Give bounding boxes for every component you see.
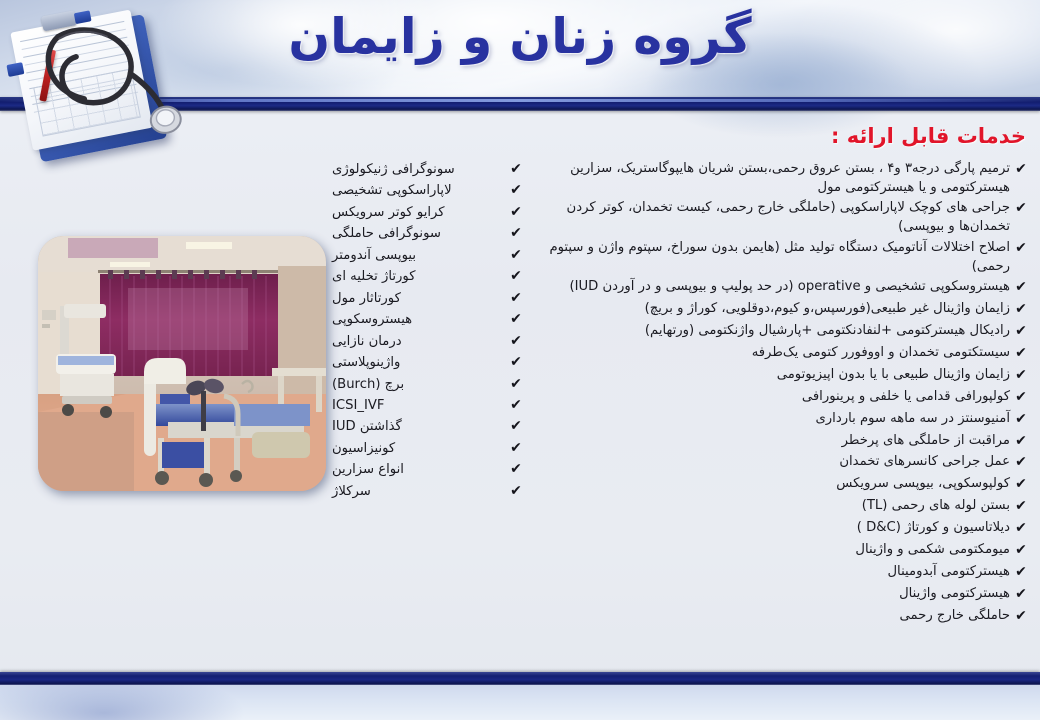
service-right-label: هیسترکتومی واژینال (512, 585, 1010, 604)
check-icon: ✔ (1010, 519, 1032, 539)
check-icon: ✔ (506, 181, 526, 201)
check-icon: ✔ (1010, 410, 1032, 430)
service-left-label: کرایو کوتر سرویکس (330, 203, 506, 223)
service-right-label: زایمان واژینال طبیعی با یا بدون اپیزیوتو… (512, 366, 1010, 385)
check-icon: ✔ (1010, 199, 1032, 219)
check-icon: ✔ (1010, 388, 1032, 408)
service-left-label: کورتاثار مول (330, 289, 506, 309)
service-right-label: بستن لوله های رحمی (TL) (512, 497, 1010, 516)
list-item: ✔مراقبت از حاملگی های پرخطر (512, 432, 1032, 452)
service-right-label: هیستروسکوپی تشخیصی و operative (در حد پو… (512, 278, 1010, 297)
section-subtitle: خدمات قابل ارائه : (831, 124, 1026, 148)
list-item: ✔لاپاراسکوپی تشخیصی (330, 181, 526, 201)
service-left-label: درمان نازایی (330, 332, 506, 352)
check-icon: ✔ (506, 332, 526, 352)
check-icon: ✔ (506, 203, 526, 223)
service-left-label: بیوپسی آندومتر (330, 246, 506, 266)
check-icon: ✔ (1010, 453, 1032, 473)
clipboard-stethoscope-icon (0, 0, 204, 179)
services-list-right: ✔ترمیم پارگی درجه۳ و۴ ، بستن عروق رحمی،ب… (512, 160, 1032, 628)
check-icon: ✔ (1010, 432, 1032, 452)
list-item: ✔زایمان واژینال طبیعی با یا بدون اپیزیوت… (512, 366, 1032, 386)
list-item: ✔بیوپسی آندومتر (330, 246, 526, 266)
list-item: ✔کولپورافی قدامی یا خلفی و پرینورافی (512, 388, 1032, 408)
list-item: ✔جراحی های کوچک لاپاراسکوپی (حاملگی خارج… (512, 199, 1032, 236)
list-item: ✔هیسترکتومی واژینال (512, 585, 1032, 605)
list-item: ✔سونوگرافی ژنیکولوژی (330, 160, 526, 180)
check-icon: ✔ (1010, 607, 1032, 627)
list-item: ✔برچ (Burch) (330, 375, 526, 395)
list-item: ✔رادیکال هیسترکتومی +لنفادنکتومی +پارشیا… (512, 322, 1032, 342)
list-item: ✔کرایو کوتر سرویکس (330, 203, 526, 223)
service-right-label: ترمیم پارگی درجه۳ و۴ ، بستن عروق رحمی،بس… (512, 160, 1010, 197)
list-item: ✔عمل جراحی کانسرهای تخمدان (512, 453, 1032, 473)
service-right-label: اصلاح اختلالات آناتومیک دستگاه تولید مثل… (512, 239, 1010, 276)
list-item: ✔هیسترکتومی آبدومینال (512, 563, 1032, 583)
check-icon: ✔ (1010, 344, 1032, 364)
service-right-label: زایمان واژینال غیر طبیعی(فورسپس،و کیوم،د… (512, 300, 1010, 319)
service-right-label: هیسترکتومی آبدومینال (512, 563, 1010, 582)
footer-sky-band (0, 685, 1040, 720)
check-icon: ✔ (506, 246, 526, 266)
footer-divider-bar (0, 672, 1040, 685)
service-left-label: انواع سزارین (330, 460, 506, 480)
check-icon: ✔ (1010, 160, 1032, 180)
service-right-label: حاملگی خارج رحمی (512, 607, 1010, 626)
service-right-label: عمل جراحی کانسرهای تخمدان (512, 453, 1010, 472)
slide-canvas: گروه زنان و زایمان (0, 0, 1040, 720)
check-icon: ✔ (506, 353, 526, 373)
service-left-label: سونوگرافی ژنیکولوژی (330, 160, 506, 180)
check-icon: ✔ (506, 460, 526, 480)
check-icon: ✔ (1010, 541, 1032, 561)
list-item: ✔ICSI_IVF (330, 396, 526, 416)
service-left-label: هیستروسکوپی (330, 310, 506, 330)
service-right-label: میومکتومی شکمی و واژینال (512, 541, 1010, 560)
list-item: ✔کونیزاسیون (330, 439, 526, 459)
service-left-label: کونیزاسیون (330, 439, 506, 459)
service-right-label: رادیکال هیسترکتومی +لنفادنکتومی +پارشیال… (512, 322, 1010, 341)
check-icon: ✔ (506, 310, 526, 330)
list-item: ✔بستن لوله های رحمی (TL) (512, 497, 1032, 517)
check-icon: ✔ (1010, 475, 1032, 495)
service-left-label: سرکلاژ (330, 482, 506, 502)
service-left-label: لاپاراسکوپی تشخیصی (330, 181, 506, 201)
check-icon: ✔ (1010, 563, 1032, 583)
service-right-label: جراحی های کوچک لاپاراسکوپی (حاملگی خارج … (512, 199, 1010, 236)
list-item: ✔زایمان واژینال غیر طبیعی(فورسپس،و کیوم،… (512, 300, 1032, 320)
list-item: ✔دیلاتاسیون و کورتاژ (D&C ) (512, 519, 1032, 539)
list-item: ✔کورتاثار مول (330, 289, 526, 309)
check-icon: ✔ (506, 396, 526, 416)
service-right-label: کولپوسکوپی، بیوپسی سرویکس (512, 475, 1010, 494)
list-item: ✔سرکلاژ (330, 482, 526, 502)
check-icon: ✔ (1010, 585, 1032, 605)
service-left-label: گذاشتن IUD (330, 417, 506, 437)
service-right-label: دیلاتاسیون و کورتاژ (D&C ) (512, 519, 1010, 538)
check-icon: ✔ (1010, 300, 1032, 320)
check-icon: ✔ (506, 375, 526, 395)
check-icon: ✔ (1010, 322, 1032, 342)
list-item: ✔حاملگی خارج رحمی (512, 607, 1032, 627)
check-icon: ✔ (1010, 278, 1032, 298)
list-item: ✔اصلاح اختلالات آناتومیک دستگاه تولید مث… (512, 239, 1032, 276)
list-item: ✔میومکتومی شکمی و واژینال (512, 541, 1032, 561)
check-icon: ✔ (506, 289, 526, 309)
service-right-label: کولپورافی قدامی یا خلفی و پرینورافی (512, 388, 1010, 407)
service-left-label: کورتاژ تخلیه ای (330, 267, 506, 287)
list-item: ✔هیستروسکوپی تشخیصی و operative (در حد پ… (512, 278, 1032, 298)
delivery-room-photo (38, 236, 326, 491)
list-item: ✔کولپوسکوپی، بیوپسی سرویکس (512, 475, 1032, 495)
check-icon: ✔ (1010, 366, 1032, 386)
stethoscope-icon (0, 0, 204, 179)
list-item: ✔گذاشتن IUD (330, 417, 526, 437)
list-item: ✔آمنیوسنتز در سه ماهه سوم بارداری (512, 410, 1032, 430)
list-item: ✔سیستکتومی تخمدان و اووفورر کتومی یک‌طرف… (512, 344, 1032, 364)
service-right-label: آمنیوسنتز در سه ماهه سوم بارداری (512, 410, 1010, 429)
services-list-left: ✔سونوگرافی ژنیکولوژی✔لاپاراسکوپی تشخیصی✔… (330, 160, 526, 503)
list-item: ✔درمان نازایی (330, 332, 526, 352)
check-icon: ✔ (506, 439, 526, 459)
service-left-label: واژینوپلاستی (330, 353, 506, 373)
check-icon: ✔ (506, 482, 526, 502)
list-item: ✔سونوگرافی حاملگی (330, 224, 526, 244)
service-right-label: مراقبت از حاملگی های پرخطر (512, 432, 1010, 451)
service-left-label: ICSI_IVF (330, 396, 506, 416)
check-icon: ✔ (506, 267, 526, 287)
list-item: ✔ترمیم پارگی درجه۳ و۴ ، بستن عروق رحمی،ب… (512, 160, 1032, 197)
check-icon: ✔ (1010, 239, 1032, 259)
service-left-label: برچ (Burch) (330, 375, 506, 395)
check-icon: ✔ (506, 160, 526, 180)
service-left-label: سونوگرافی حاملگی (330, 224, 506, 244)
check-icon: ✔ (1010, 497, 1032, 517)
list-item: ✔انواع سزارین (330, 460, 526, 480)
list-item: ✔واژینوپلاستی (330, 353, 526, 373)
check-icon: ✔ (506, 224, 526, 244)
check-icon: ✔ (506, 417, 526, 437)
list-item: ✔هیستروسکوپی (330, 310, 526, 330)
list-item: ✔کورتاژ تخلیه ای (330, 267, 526, 287)
service-right-label: سیستکتومی تخمدان و اووفورر کتومی یک‌طرفه (512, 344, 1010, 363)
